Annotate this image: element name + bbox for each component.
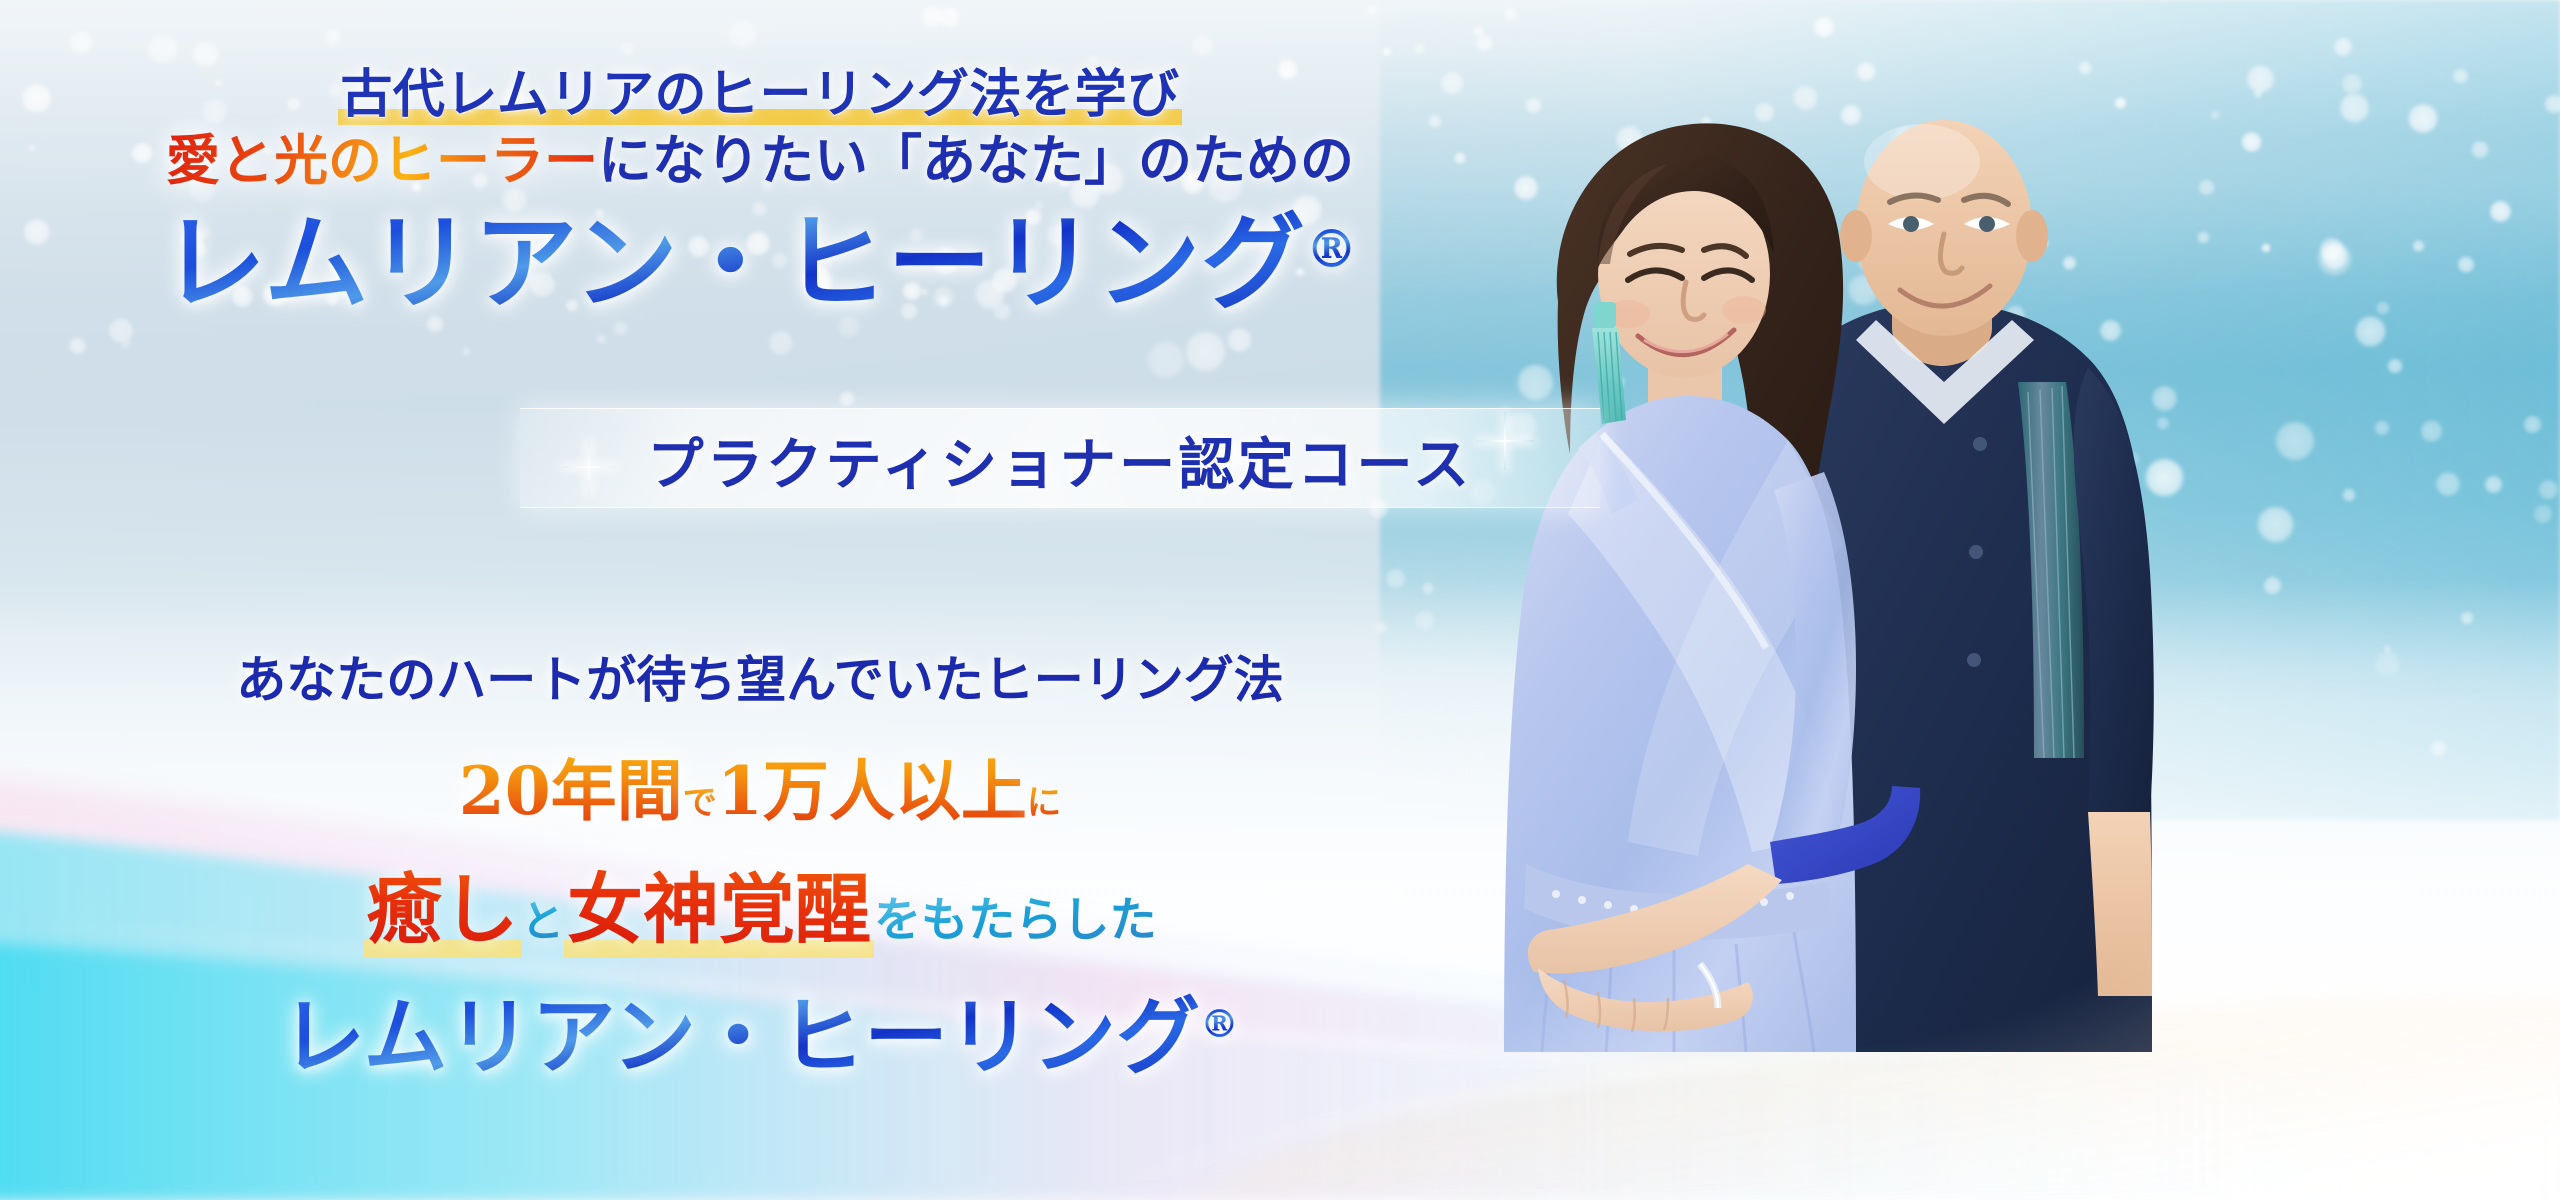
couple-photo (1452, 52, 2180, 1052)
finale-registered-trademark-icon: ® (1200, 1002, 1239, 1047)
hero-copy-lower: あなたのハートが待ち望んでいたヒーリング法 20年間で1万人以上に 癒しと女神覚… (0, 0, 1520, 1200)
stat-years: 20年間 (459, 752, 683, 830)
result-heal: 癒し (366, 865, 518, 954)
result-goddess: 女神覚醒 (567, 865, 871, 954)
stat-people: 1万人以上 (717, 752, 1027, 830)
finale-title: レムリアン・ヒーリング® (0, 970, 1520, 1091)
result-goddess-mark: 女神覚醒 (564, 848, 874, 958)
result-line: 癒しと女神覚醒をもたらした (0, 848, 1520, 958)
finale-title-text: レムリアン・ヒーリング (281, 987, 1200, 1086)
couple-photo-illustration (1452, 52, 2180, 1052)
result-to: と (521, 897, 564, 947)
result-tail: をもたらした (874, 893, 1157, 948)
sub-heading: あなたのハートが待ち望んでいたヒーリング法 (0, 640, 1520, 712)
result-heal-mark: 癒し (363, 848, 521, 958)
stat-de: で (683, 783, 717, 823)
stat-ni: に (1027, 783, 1061, 823)
hero-banner: 古代レムリアのヒーリング法を学び 愛と光のヒーラーになりたい「あなた」のための … (0, 0, 2560, 1200)
stat-line: 20年間で1万人以上に (0, 738, 1520, 834)
